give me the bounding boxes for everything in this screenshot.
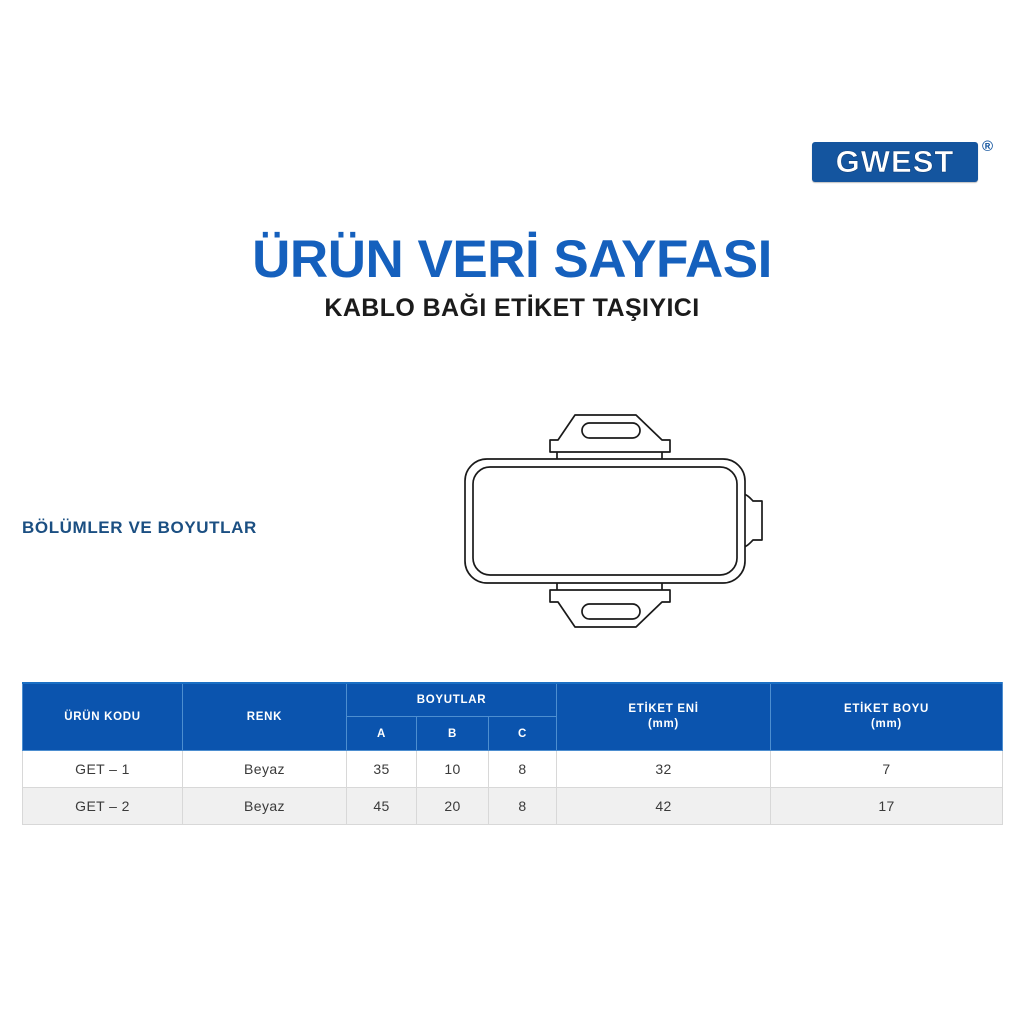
table-top-rule (22, 682, 1002, 684)
section-heading-dimensions: BÖLÜMLER VE BOYUTLAR (22, 518, 257, 538)
col-header-label-width-text: ETİKET ENİ (628, 703, 698, 715)
col-header-color: RENK (183, 683, 347, 751)
cell-label-length: 7 (771, 751, 1003, 788)
table-header-row-1: ÜRÜN KODU RENK BOYUTLAR ETİKET ENİ (mm) … (23, 683, 1003, 717)
cell-dim-c: 8 (489, 751, 557, 788)
cell-color: Beyaz (183, 751, 347, 788)
col-header-label-width-unit: (mm) (557, 718, 770, 730)
bottom-tab-slot (582, 604, 640, 619)
page-title-block: ÜRÜN VERİ SAYFASI KABLO BAĞI ETİKET TAŞI… (0, 232, 1024, 323)
cell-label-width: 42 (557, 788, 771, 825)
product-technical-drawing (440, 395, 800, 645)
cell-product-code: GET – 2 (23, 788, 183, 825)
col-header-dim-b: B (417, 717, 489, 751)
cell-dim-c: 8 (489, 788, 557, 825)
page-subtitle: KABLO BAĞI ETİKET TAŞIYICI (0, 294, 1024, 323)
col-header-label-length-text: ETİKET BOYU (844, 703, 929, 715)
table-header: ÜRÜN KODU RENK BOYUTLAR ETİKET ENİ (mm) … (23, 683, 1003, 751)
cell-dim-b: 20 (417, 788, 489, 825)
cell-label-width: 32 (557, 751, 771, 788)
cell-dim-a: 35 (347, 751, 417, 788)
cell-dim-a: 45 (347, 788, 417, 825)
table-body: GET – 1 Beyaz 35 10 8 32 7 GET – 2 Beyaz… (23, 751, 1003, 825)
col-header-dim-c: C (489, 717, 557, 751)
cell-label-length: 17 (771, 788, 1003, 825)
page-title: ÜRÜN VERİ SAYFASI (0, 232, 1024, 288)
cell-color: Beyaz (183, 788, 347, 825)
specification-table: ÜRÜN KODU RENK BOYUTLAR ETİKET ENİ (mm) … (22, 682, 1003, 825)
specification-table-wrapper: ÜRÜN KODU RENK BOYUTLAR ETİKET ENİ (mm) … (22, 682, 1002, 825)
col-header-label-length: ETİKET BOYU (mm) (771, 683, 1003, 751)
label-window-inner (473, 467, 737, 575)
brand-logo: GWEST ® (812, 136, 998, 188)
cell-product-code: GET – 1 (23, 751, 183, 788)
registered-trademark-icon: ® (982, 138, 993, 155)
product-outline-svg (440, 395, 800, 645)
col-header-product-code: ÜRÜN KODU (23, 683, 183, 751)
table-row: GET – 1 Beyaz 35 10 8 32 7 (23, 751, 1003, 788)
col-header-dim-a: A (347, 717, 417, 751)
table-row: GET – 2 Beyaz 45 20 8 42 17 (23, 788, 1003, 825)
logo-text: GWEST (812, 142, 978, 182)
col-header-label-width: ETİKET ENİ (mm) (557, 683, 771, 751)
col-header-label-length-unit: (mm) (771, 718, 1002, 730)
top-tab-slot (582, 423, 640, 438)
col-header-dimensions-group: BOYUTLAR (347, 683, 557, 717)
cell-dim-b: 10 (417, 751, 489, 788)
